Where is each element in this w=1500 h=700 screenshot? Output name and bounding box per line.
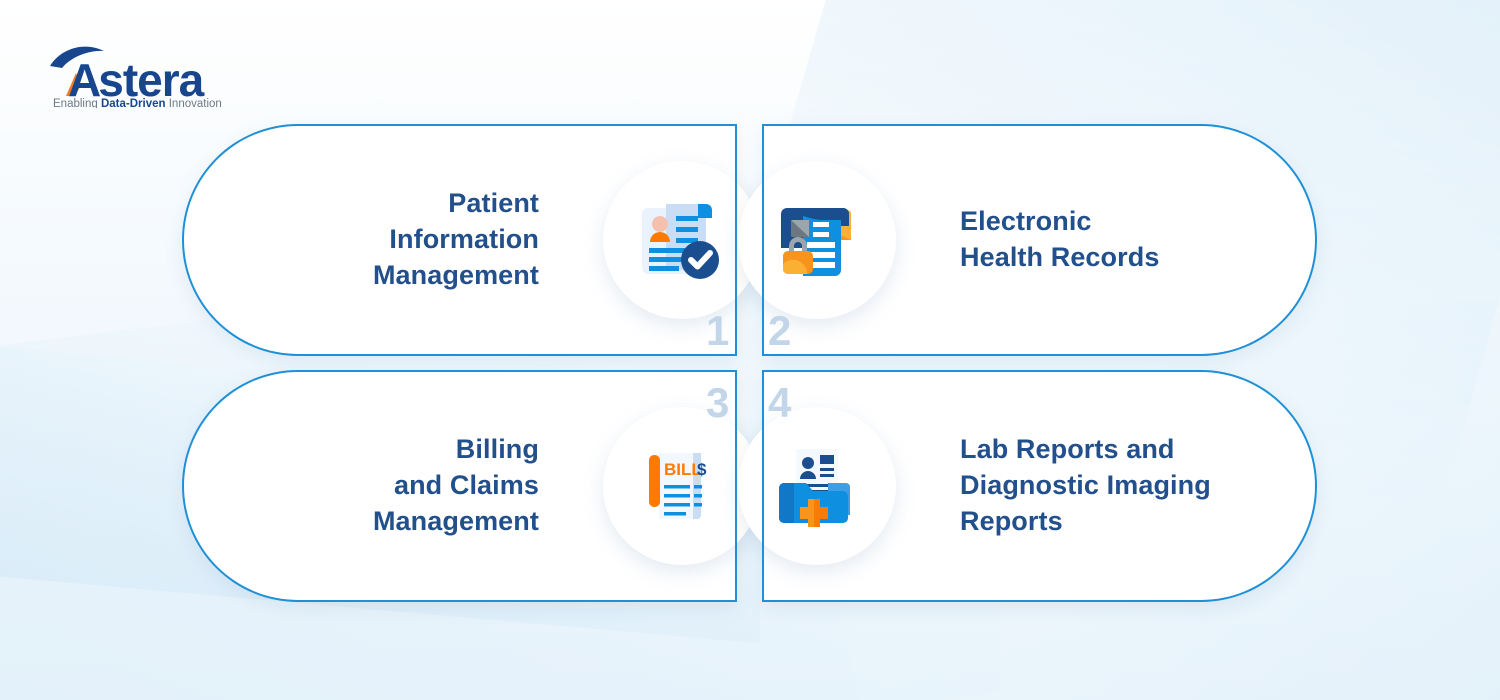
card-electronic-health-records[interactable]: Electronic Health Records: [764, 124, 1317, 356]
card-billing-and-claims-management[interactable]: Billing and Claims Management BILL $: [182, 370, 735, 602]
card-patient-information-management[interactable]: Patient Information Management: [182, 124, 735, 356]
infographic-canvas: Astera Enabling Data-Driven Innovation P…: [0, 0, 1500, 700]
step-number-3: 3: [706, 382, 729, 424]
card-grid: Patient Information Management: [182, 124, 1317, 602]
tagline-post: Innovation: [166, 98, 222, 108]
card-3-title: Billing and Claims Management: [373, 432, 539, 540]
tagline-pre: Enabling: [53, 98, 101, 108]
astera-logo: Astera Enabling Data-Driven Innovation: [48, 38, 258, 108]
step-number-1: 1: [706, 310, 729, 352]
card-2-inner: Electronic Health Records: [764, 126, 1315, 354]
card-2-title: Electronic Health Records: [960, 204, 1159, 276]
card-4-title: Lab Reports and Diagnostic Imaging Repor…: [960, 432, 1211, 540]
card-lab-reports-and-diagnostic-imaging-reports[interactable]: Lab Reports and Diagnostic Imaging Repor…: [764, 370, 1317, 602]
step-number-2: 2: [768, 310, 791, 352]
svg-text:Enabling Data-Driven Innovatio: Enabling Data-Driven Innovation: [53, 98, 222, 108]
card-4-inner: Lab Reports and Diagnostic Imaging Repor…: [764, 372, 1315, 600]
dollar-sign: $: [697, 460, 707, 479]
card-1-title: Patient Information Management: [373, 186, 539, 294]
step-number-4: 4: [768, 382, 791, 424]
tagline-bold: Data-Driven: [101, 98, 166, 108]
